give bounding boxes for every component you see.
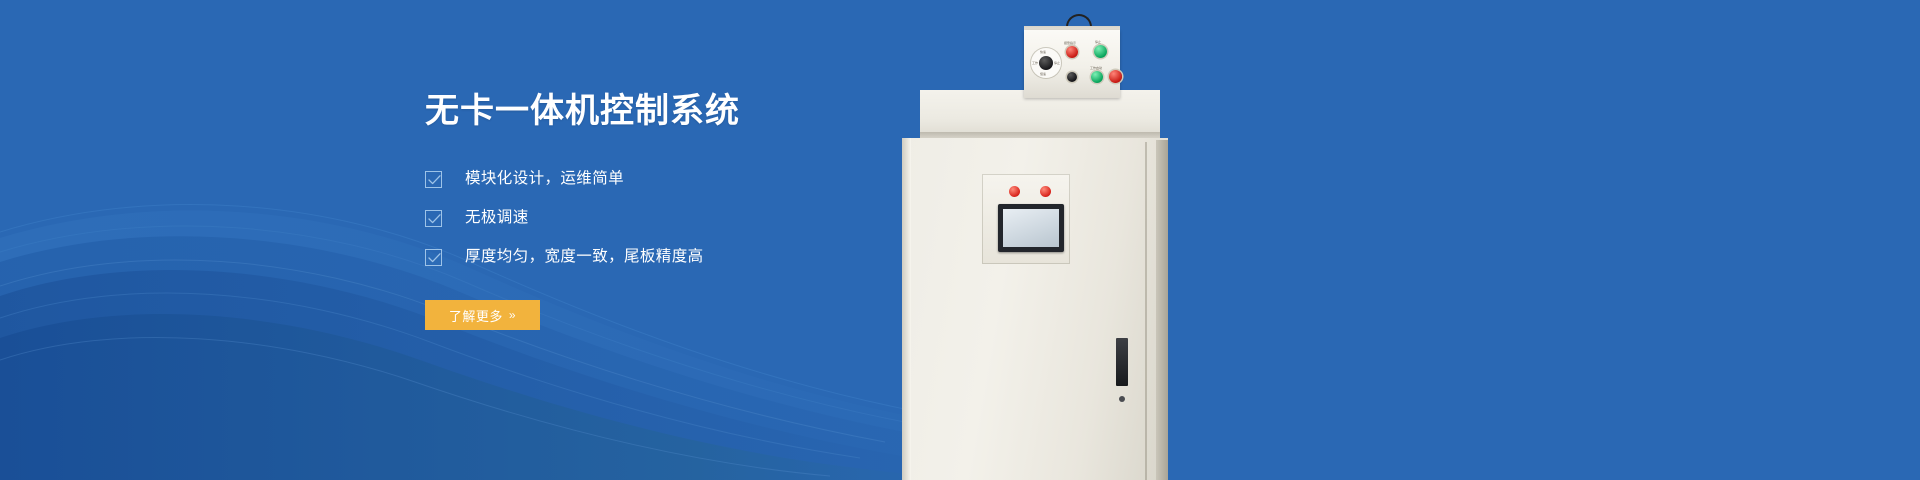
learn-more-button[interactable]: 了解更多 » [425,300,540,330]
learn-more-label: 了解更多 [449,306,503,325]
cabinet-right-edge [1156,140,1168,480]
list-item: 厚度均匀，宽度一致，尾板精度高 [425,246,945,268]
machine-photo: 快速 工作 停止 慢速 报警指示 停止 工作启动 [898,0,1298,480]
hero-banner: 无卡一体机控制系统 模块化设计，运维简单 无极调速 [0,0,1920,480]
selector-knob [1039,56,1053,70]
power-button [1109,70,1122,83]
alarm-indicator-label: 报警指示 [1064,41,1076,45]
stop-button-label: 停止 [1095,40,1101,44]
knob-label-bottom: 慢速 [1040,72,1046,76]
list-item-label: 无极调速 [465,207,529,229]
checkbox-checked-icon [425,210,442,227]
knob-label-right: 停止 [1054,61,1060,65]
chevron-right-icon: » [509,308,516,322]
cabinet-door-seam [1145,142,1147,480]
stop-button [1094,45,1107,58]
list-item: 模块化设计，运维简单 [425,168,945,190]
indicator-lamp-left [1009,186,1020,197]
page-title: 无卡一体机控制系统 [425,88,945,134]
cabinet-door-lock [1119,396,1125,402]
list-item-label: 模块化设计，运维简单 [465,168,624,190]
hero-copy: 无卡一体机控制系统 模块化设计，运维简单 无极调速 [425,88,945,330]
list-item-label: 厚度均匀，宽度一致，尾板精度高 [465,246,704,268]
knob-label-top: 快速 [1040,50,1046,54]
list-item: 无极调速 [425,207,945,229]
hmi-touchscreen [1003,209,1059,247]
alarm-indicator [1066,46,1078,58]
feature-list: 模块化设计，运维简单 无极调速 厚度均匀，宽度一致，尾板精度高 [425,168,945,268]
start-button-label: 工作启动 [1090,66,1102,70]
checkbox-checked-icon [425,249,442,266]
reset-button [1067,72,1077,82]
indicator-lamp-right [1040,186,1051,197]
cabinet-door-handle [1116,338,1128,386]
start-button [1091,71,1103,83]
checkbox-checked-icon [425,171,442,188]
knob-label-left: 工作 [1032,61,1038,65]
